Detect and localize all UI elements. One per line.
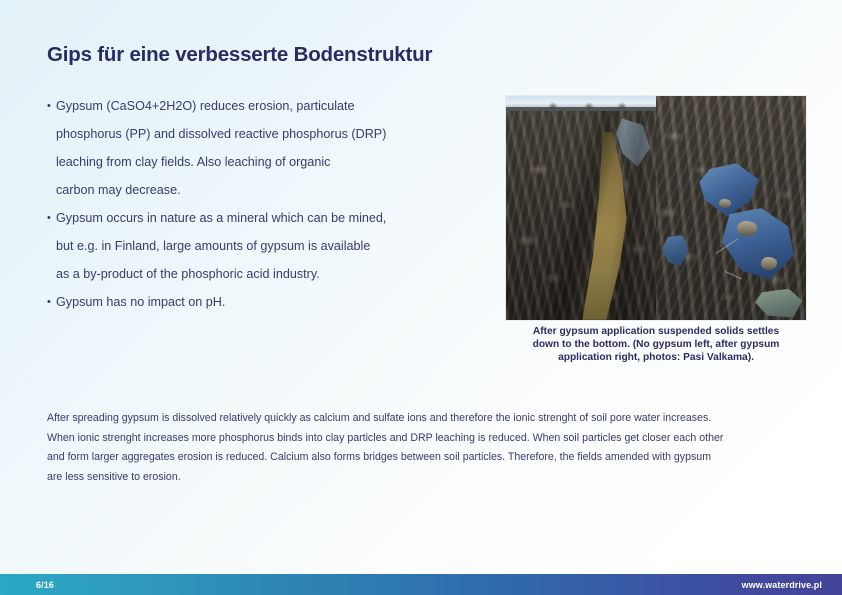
bullet-line: but e.g. in Finland, large amounts of gy… (47, 232, 477, 260)
bullet-line: •Gypsum has no impact on pH. (47, 288, 477, 316)
photo-before-gypsum (506, 96, 656, 320)
caption-line: After gypsum application suspended solid… (506, 325, 806, 338)
bullet-text: Gypsum has no impact on pH. (56, 295, 225, 309)
bullet-list: •Gypsum (CaSO4+2H2O) reduces erosion, pa… (47, 92, 477, 316)
caption-line: application right, photos: Pasi Valkama)… (506, 351, 806, 364)
list-item: •Gypsum has no impact on pH. (47, 288, 477, 316)
body-line: When ionic strenght increases more phosp… (47, 429, 819, 449)
caption-line: down to the bottom. (No gypsum left, aft… (506, 338, 806, 351)
bullet-line: •Gypsum occurs in nature as a mineral wh… (47, 204, 477, 232)
bullet-line: phosphorus (PP) and dissolved reactive p… (47, 120, 477, 148)
list-item: •Gypsum (CaSO4+2H2O) reduces erosion, pa… (47, 92, 477, 204)
bullet-line: carbon may decrease. (47, 176, 477, 204)
body-paragraph: After spreading gypsum is dissolved rela… (47, 409, 819, 487)
body-line: are less sensitive to erosion. (47, 468, 819, 488)
page-title: Gips für eine verbesserte Bodenstruktur (47, 43, 432, 67)
figure-images (506, 96, 806, 320)
bullet-text: Gypsum (CaSO4+2H2O) reduces erosion, par… (56, 99, 355, 113)
body-line: and form larger aggregates erosion is re… (47, 448, 819, 468)
bullet-text: Gypsum occurs in nature as a mineral whi… (56, 211, 386, 225)
bullet-marker-icon: • (47, 288, 56, 316)
list-item: •Gypsum occurs in nature as a mineral wh… (47, 204, 477, 288)
footer-website-link[interactable]: www.waterdrive.pl (742, 580, 842, 590)
bullet-line: •Gypsum (CaSO4+2H2O) reduces erosion, pa… (47, 92, 477, 120)
bullet-marker-icon: • (47, 204, 56, 232)
body-line: After spreading gypsum is dissolved rela… (47, 409, 819, 429)
photo-furrow-shadows (506, 111, 656, 320)
page-number: 6/16 (0, 580, 54, 590)
figure-caption: After gypsum application suspended solid… (506, 325, 806, 365)
bullet-line: leaching from clay fields. Also leaching… (47, 148, 477, 176)
footer-bar: 6/16 www.waterdrive.pl (0, 574, 842, 595)
bullet-marker-icon: • (47, 92, 56, 120)
slide-canvas: Gips für eine verbesserte Bodenstruktur … (0, 0, 842, 595)
bullet-line: as a by-product of the phosphoric acid i… (47, 260, 477, 288)
photo-after-gypsum (656, 96, 806, 320)
